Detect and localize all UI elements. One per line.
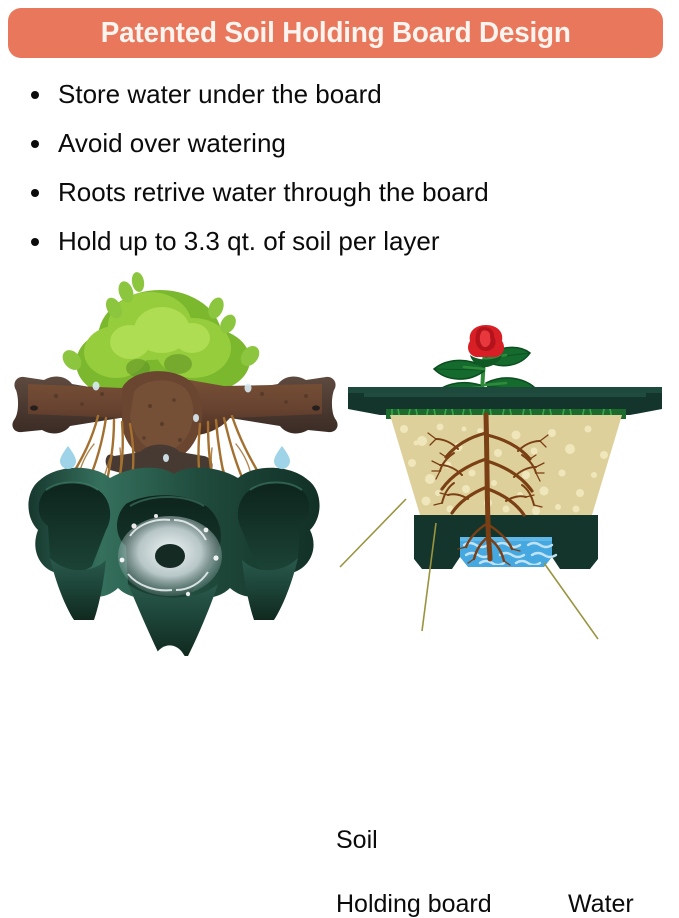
diagram-label-water: Water (568, 892, 634, 917)
leader-line-water (544, 563, 598, 639)
diagram-label-soil: Soil (336, 828, 378, 853)
list-item-label: Store water under the board (58, 79, 382, 109)
feature-list: Store water under the board Avoid over w… (24, 70, 664, 266)
list-item-label: Avoid over watering (58, 128, 286, 158)
list-item: Hold up to 3.3 qt. of soil per layer (24, 217, 664, 266)
list-item-label: Roots retrive water through the board (58, 177, 489, 207)
list-item: Store water under the board (24, 70, 664, 119)
bullet-icon (31, 91, 39, 99)
list-item: Roots retrive water through the board (24, 168, 664, 217)
bullet-icon (31, 140, 39, 148)
rose-bloom-icon (468, 325, 504, 367)
header-banner: Patented Soil Holding Board Design (8, 8, 663, 58)
list-item: Avoid over watering (24, 119, 664, 168)
cross-section-diagram (330, 323, 679, 660)
list-item-label: Hold up to 3.3 qt. of soil per layer (58, 226, 440, 256)
bullet-icon (31, 238, 39, 246)
product-photo (10, 268, 340, 660)
diagram-label-holding-board: Holding board (336, 892, 492, 917)
bullet-icon (31, 189, 39, 197)
illustration-area: Soil Holding board Water (0, 268, 679, 660)
page-title: Patented Soil Holding Board Design (101, 19, 571, 48)
leader-line-soil (340, 499, 406, 567)
